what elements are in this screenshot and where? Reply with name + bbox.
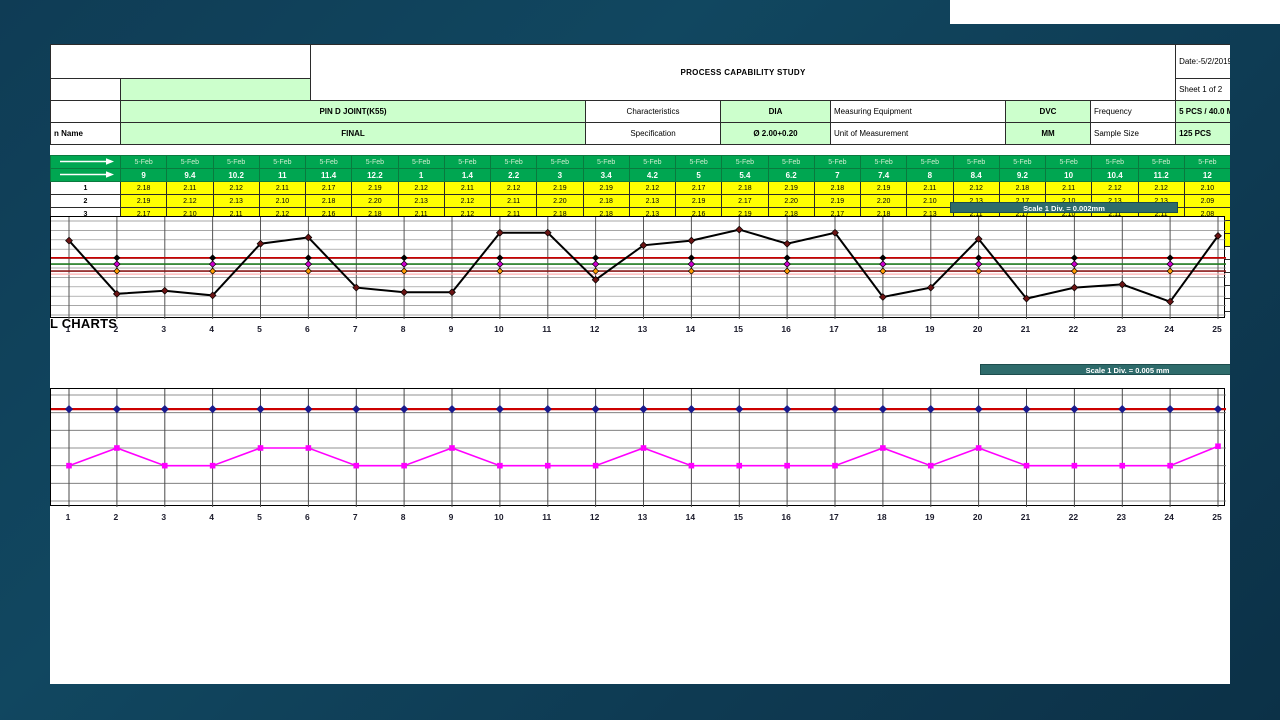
grid-time-cell: 8 [907, 169, 953, 182]
measurement-cell[interactable]: 2.19 [768, 182, 814, 195]
part-code-cell [121, 79, 311, 101]
xbar-tick-label: 14 [686, 324, 695, 334]
measurement-cell[interactable]: 2.12 [167, 195, 213, 208]
measurement-cell[interactable]: 2.19 [121, 195, 167, 208]
xbar-tick-label: 24 [1164, 324, 1173, 334]
grid-time-cell: 10.4 [1092, 169, 1138, 182]
measurement-cell[interactable]: 2.20 [768, 195, 814, 208]
grid-date-cell: 5-Feb [1184, 156, 1230, 169]
characteristics-value: DIA [721, 101, 831, 123]
xbar-tick-label: 10 [494, 324, 503, 334]
grid-date-cell: 5-Feb [722, 156, 768, 169]
measuring-equipment-value: DVC [1006, 101, 1091, 123]
measurement-cell[interactable]: 2.11 [1046, 182, 1092, 195]
xbar-tick-label: 18 [877, 324, 886, 334]
measurement-cell[interactable]: 2.19 [861, 182, 907, 195]
grid-time-row: 99.410.21111.412.211.42.233.44.255.46.27… [51, 169, 1231, 182]
measurement-cell[interactable]: 2.09 [1184, 195, 1230, 208]
grid-time-cell: 10 [1046, 169, 1092, 182]
r-x-axis: 1234567891011121314151617181920212223242… [50, 510, 1225, 526]
blank-cell-a [51, 79, 121, 101]
measurement-cell[interactable]: 2.11 [444, 182, 490, 195]
grid-date-cell: 5-Feb [814, 156, 860, 169]
sheet-cell: Sheet 1 of 2 [1176, 79, 1230, 101]
measurement-cell[interactable]: 2.18 [121, 182, 167, 195]
grid-date-cell: 5-Feb [861, 156, 907, 169]
measurement-cell[interactable]: 2.12 [444, 195, 490, 208]
grid-date-cell: 5-Feb [676, 156, 722, 169]
page-title: PROCESS CAPABILITY STUDY [311, 45, 1176, 101]
measurement-cell[interactable]: 2.19 [676, 195, 722, 208]
grid-sample-row: 12.182.112.122.112.172.192.122.112.122.1… [51, 182, 1231, 195]
sample-size-label: Sample Size [1091, 123, 1176, 145]
grid-date-cell: 5-Feb [583, 156, 629, 169]
grid-date-cell: 5-Feb [167, 156, 213, 169]
measurement-cell[interactable]: 2.13 [213, 195, 259, 208]
r-tick-label: 23 [1117, 512, 1126, 522]
xbar-tick-label: 1 [66, 324, 71, 334]
measurement-cell[interactable]: 2.11 [907, 182, 953, 195]
header-row-1: PROCESS CAPABILITY STUDY Date:-5/2/2019 [51, 45, 1231, 79]
measurement-cell[interactable]: 2.11 [491, 195, 537, 208]
measurement-cell[interactable]: 2.17 [722, 195, 768, 208]
measurement-cell[interactable]: 2.18 [722, 182, 768, 195]
unit-value: MM [1006, 123, 1091, 145]
measurement-cell[interactable]: 2.10 [907, 195, 953, 208]
xbar-tick-label: 20 [973, 324, 982, 334]
xbar-tick-label: 6 [305, 324, 310, 334]
frequency-label: Frequency [1091, 101, 1176, 123]
xbar-tick-label: 12 [590, 324, 599, 334]
grid-time-cell: 11.2 [1138, 169, 1184, 182]
xbar-x-axis: 1234567891011121314151617181920212223242… [50, 322, 1225, 338]
xbar-tick-label: 9 [449, 324, 454, 334]
grid-time-cell: 9 [121, 169, 167, 182]
scale-label-xbar: Scale 1 Div. = 0.002mm [950, 202, 1178, 213]
date-cell: Date:-5/2/2019 [1176, 45, 1230, 79]
measuring-equipment-label: Measuring Equipment [831, 101, 1006, 123]
grid-date-cell: 5-Feb [768, 156, 814, 169]
measurement-cell[interactable]: 2.18 [583, 195, 629, 208]
xbar-tick-label: 23 [1117, 324, 1126, 334]
r-tick-label: 12 [590, 512, 599, 522]
frequency-value: 5 PCS / 40.0 MIN [1176, 101, 1230, 123]
specification-label: Specification [586, 123, 721, 145]
grid-time-cell: 5 [676, 169, 722, 182]
measurement-cell[interactable]: 2.20 [861, 195, 907, 208]
xbar-tick-label: 5 [257, 324, 262, 334]
r-tick-label: 3 [161, 512, 166, 522]
r-tick-label: 17 [829, 512, 838, 522]
logo-cell [51, 45, 311, 79]
grid-time-cell: 10.2 [213, 169, 259, 182]
measurement-cell[interactable]: 2.13 [398, 195, 444, 208]
measurement-cell[interactable]: 2.11 [167, 182, 213, 195]
xbar-tick-label: 7 [353, 324, 358, 334]
measurement-cell[interactable]: 2.10 [1184, 182, 1230, 195]
measurement-cell[interactable]: 2.12 [1138, 182, 1184, 195]
measurement-cell[interactable]: 2.12 [213, 182, 259, 195]
r-tick-label: 13 [638, 512, 647, 522]
measurement-cell[interactable]: 2.17 [676, 182, 722, 195]
measurement-cell[interactable]: 2.19 [814, 195, 860, 208]
measurement-cell[interactable]: 2.12 [629, 182, 675, 195]
measurement-cell[interactable]: 2.18 [999, 182, 1045, 195]
measurement-cell[interactable]: 2.17 [306, 182, 352, 195]
grid-date-cell: 5-Feb [907, 156, 953, 169]
grid-time-cell: 2.2 [491, 169, 537, 182]
unit-label: Unit of Measurement [831, 123, 1006, 145]
r-tick-label: 21 [1021, 512, 1030, 522]
xbar-tick-label: 21 [1021, 324, 1030, 334]
grid-date-cell: 5-Feb [352, 156, 398, 169]
measurement-cell[interactable]: 2.13 [629, 195, 675, 208]
xbar-chart-svg [51, 217, 1226, 319]
scale-label-r: Scale 1 Div. = 0.005 mm [980, 364, 1230, 375]
header-row-4: n Name FINAL Specification Ø 2.00+0.20 U… [51, 123, 1231, 145]
sample-index-label: 2 [51, 195, 121, 208]
measurement-cell[interactable]: 2.20 [537, 195, 583, 208]
grid-date-cell: 5-Feb [398, 156, 444, 169]
measurement-cell[interactable]: 2.19 [352, 182, 398, 195]
grid-time-cell: 7.4 [861, 169, 907, 182]
grid-date-cell: 5-Feb [1092, 156, 1138, 169]
xbar-tick-label: 4 [209, 324, 214, 334]
xbar-tick-label: 3 [161, 324, 166, 334]
r-tick-label: 7 [353, 512, 358, 522]
time-arrow-icon [51, 169, 121, 182]
xbar-tick-label: 19 [925, 324, 934, 334]
r-chart [50, 388, 1225, 506]
xbar-tick-label: 17 [829, 324, 838, 334]
grid-date-cell: 5-Feb [953, 156, 999, 169]
xbar-tick-label: 16 [781, 324, 790, 334]
grid-time-cell: 9.2 [999, 169, 1045, 182]
grid-date-cell: 5-Feb [491, 156, 537, 169]
operation-name-value: FINAL [121, 123, 586, 145]
spreadsheet-sheet: PROCESS CAPABILITY STUDY Date:-5/2/2019 … [50, 44, 1230, 684]
measurement-cell[interactable]: 2.12 [953, 182, 999, 195]
sample-size-value: 125 PCS [1176, 123, 1230, 145]
grid-date-cell: 5-Feb [629, 156, 675, 169]
grid-date-cell: 5-Feb [121, 156, 167, 169]
grid-date-cell: 5-Feb [1138, 156, 1184, 169]
measurement-cell[interactable]: 2.19 [583, 182, 629, 195]
grid-time-cell: 1.4 [444, 169, 490, 182]
measurement-cell[interactable]: 2.18 [306, 195, 352, 208]
r-tick-label: 6 [305, 512, 310, 522]
r-tick-label: 11 [542, 512, 551, 522]
r-tick-label: 9 [449, 512, 454, 522]
r-tick-label: 20 [973, 512, 982, 522]
grid-date-cell: 5-Feb [1046, 156, 1092, 169]
measurement-cell[interactable]: 2.12 [398, 182, 444, 195]
date-arrow-icon [51, 156, 121, 169]
grid-time-cell: 3 [537, 169, 583, 182]
sample-index-label: 1 [51, 182, 121, 195]
grid-time-cell: 8.4 [953, 169, 999, 182]
measurement-cell[interactable]: 2.18 [814, 182, 860, 195]
r-chart-svg [51, 389, 1226, 507]
grid-date-row: 5-Feb5-Feb5-Feb5-Feb5-Feb5-Feb5-Feb5-Feb… [51, 156, 1231, 169]
grid-date-cell: 5-Feb [213, 156, 259, 169]
r-tick-label: 1 [66, 512, 71, 522]
r-tick-label: 2 [114, 512, 119, 522]
grid-time-cell: 11.4 [306, 169, 352, 182]
measurement-cell[interactable]: 2.10 [259, 195, 305, 208]
grid-time-cell: 11 [259, 169, 305, 182]
r-tick-label: 10 [494, 512, 503, 522]
xbar-tick-label: 15 [734, 324, 743, 334]
measurement-cell[interactable]: 2.20 [352, 195, 398, 208]
measurement-cell[interactable]: 2.19 [537, 182, 583, 195]
grid-time-cell: 5.4 [722, 169, 768, 182]
part-name-label-cell [51, 101, 121, 123]
r-tick-label: 5 [257, 512, 262, 522]
header-row-3: PIN D JOINT(K55) Characteristics DIA Mea… [51, 101, 1231, 123]
characteristics-label: Characteristics [586, 101, 721, 123]
r-tick-label: 4 [209, 512, 214, 522]
grid-time-cell: 3.4 [583, 169, 629, 182]
grid-date-cell: 5-Feb [306, 156, 352, 169]
grid-time-cell: 4.2 [629, 169, 675, 182]
specification-value: Ø 2.00+0.20 [721, 123, 831, 145]
xbar-tick-label: 2 [114, 324, 119, 334]
measurement-cell[interactable]: 2.11 [259, 182, 305, 195]
xbar-chart [50, 216, 1225, 318]
grid-time-cell: 9.4 [167, 169, 213, 182]
part-name-value: PIN D JOINT(K55) [121, 101, 586, 123]
grid-date-cell: 5-Feb [537, 156, 583, 169]
xbar-tick-label: 11 [542, 324, 551, 334]
r-tick-label: 24 [1164, 512, 1173, 522]
grid-time-cell: 12.2 [352, 169, 398, 182]
xbar-tick-label: 25 [1212, 324, 1221, 334]
grid-date-cell: 5-Feb [444, 156, 490, 169]
operation-name-label: n Name [51, 123, 121, 145]
xbar-tick-label: 13 [638, 324, 647, 334]
grid-time-cell: 12 [1184, 169, 1230, 182]
grid-time-cell: 6.2 [768, 169, 814, 182]
measurement-cell[interactable]: 2.12 [491, 182, 537, 195]
grid-time-cell: 7 [814, 169, 860, 182]
grid-time-cell: 1 [398, 169, 444, 182]
r-tick-label: 15 [734, 512, 743, 522]
r-tick-label: 8 [401, 512, 406, 522]
r-tick-label: 22 [1069, 512, 1078, 522]
r-tick-label: 25 [1212, 512, 1221, 522]
header-table: PROCESS CAPABILITY STUDY Date:-5/2/2019 … [50, 44, 1230, 145]
r-tick-label: 14 [686, 512, 695, 522]
grid-date-cell: 5-Feb [999, 156, 1045, 169]
r-tick-label: 18 [877, 512, 886, 522]
xbar-tick-label: 22 [1069, 324, 1078, 334]
r-tick-label: 16 [781, 512, 790, 522]
background-band [950, 0, 1280, 24]
r-tick-label: 19 [925, 512, 934, 522]
xbar-tick-label: 8 [401, 324, 406, 334]
grid-date-cell: 5-Feb [259, 156, 305, 169]
measurement-cell[interactable]: 2.12 [1092, 182, 1138, 195]
